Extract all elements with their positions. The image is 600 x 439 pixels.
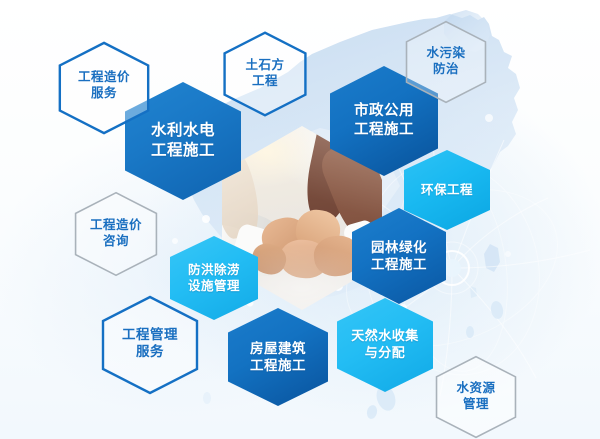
hex-label-line-1: 水污染 [426, 45, 465, 61]
hex-label-line-1: 天然水收集 [351, 328, 419, 345]
hex-label-line-1: 防洪除涝 [188, 262, 240, 278]
hex-label: 土石方 工程 [245, 57, 284, 89]
hex-label-line-2: 服务 [78, 85, 130, 101]
hex-label-line-2: 服务 [122, 343, 178, 360]
hex-label: 房屋建筑 工程施工 [250, 340, 306, 375]
hex-label-line-2: 与分配 [351, 345, 419, 362]
hex-label-line-1: 工程造价 [78, 69, 130, 85]
hex-node-cost-consulting[interactable]: 工程造价 咨询 [73, 191, 159, 275]
hex-label-line-1: 环保工程 [421, 182, 473, 198]
hex-label: 工程造价 咨询 [90, 217, 142, 249]
hex-label: 天然水收集 与分配 [351, 328, 419, 361]
hex-label-line-1: 水利水电 [151, 121, 215, 141]
hex-label-line-1: 房屋建筑 [250, 340, 306, 357]
hex-label-line-2: 管理 [456, 396, 495, 412]
hex-label-line-1: 市政公用 [354, 102, 414, 121]
hex-node-project-management-service[interactable]: 工程管理 服务 [100, 295, 200, 391]
hex-label-line-1: 工程管理 [122, 326, 178, 343]
hex-label-line-2: 工程 [245, 73, 284, 89]
hex-label: 工程管理 服务 [122, 326, 178, 361]
hex-label-line-1: 土石方 [245, 57, 284, 73]
hex-label: 环保工程 [421, 182, 473, 198]
hex-label-line-2: 防治 [426, 61, 465, 77]
hex-label: 园林绿化 工程施工 [371, 239, 427, 274]
hex-node-water-pollution[interactable]: 水污染 防治 [404, 20, 488, 102]
hex-node-earthwork[interactable]: 土石方 工程 [222, 31, 308, 115]
hex-label: 水污染 防治 [426, 45, 465, 77]
hex-label: 工程造价 服务 [78, 69, 130, 101]
hex-node-water-resource-management[interactable]: 水资源 管理 [434, 355, 518, 437]
hex-label-line-1: 园林绿化 [371, 239, 427, 256]
hex-node-cost-service[interactable]: 工程造价 服务 [57, 41, 151, 129]
hex-label-line-2: 工程施工 [371, 256, 427, 273]
hex-label-line-1: 工程造价 [90, 217, 142, 233]
hex-label-line-1: 水资源 [456, 380, 495, 396]
hex-label-line-2: 工程施工 [354, 121, 414, 140]
hex-label-line-2: 工程施工 [151, 141, 215, 161]
hex-node-natural-water-collection[interactable]: 天然水收集 与分配 [337, 298, 433, 392]
infographic-canvas: 工程造价 服务 土石方 工程 水污染 防治 水利水电 工程施工 [0, 0, 600, 439]
hex-node-landscaping-construction[interactable]: 园林绿化 工程施工 [352, 208, 446, 304]
hex-label: 防洪除涝 设施管理 [188, 262, 240, 294]
hex-label: 水利水电 工程施工 [151, 121, 215, 161]
hex-node-building-construction[interactable]: 房屋建筑 工程施工 [228, 308, 328, 406]
hex-label-line-2: 咨询 [90, 233, 142, 249]
hex-label: 市政公用 工程施工 [354, 102, 414, 139]
hex-label: 水资源 管理 [456, 380, 495, 412]
hex-label-line-2: 设施管理 [188, 278, 240, 294]
hex-label-line-2: 工程施工 [250, 357, 306, 374]
